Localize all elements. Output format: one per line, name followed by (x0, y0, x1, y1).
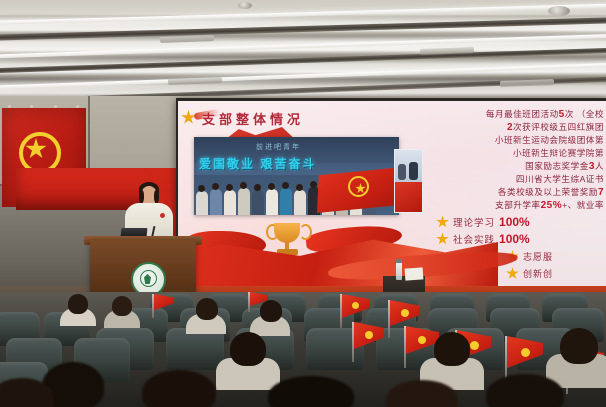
flag-emblem-icon (470, 341, 479, 350)
line-number: 25% (541, 200, 563, 211)
slide-metric-small: 创新创 (506, 267, 606, 280)
slide-text-line: 各类校级及以上荣誉奖励7 (410, 186, 606, 199)
audience-head (68, 294, 88, 314)
photo-person (280, 188, 292, 215)
line-prefix: 四川省大学生综A证书 (516, 174, 604, 184)
photo-person-head (198, 185, 205, 192)
slide-metric: 社会实践 100% (436, 232, 606, 246)
metric-label: 志愿服 (523, 250, 553, 263)
flag-emblem-icon (352, 302, 359, 309)
photo-person-head (240, 182, 247, 189)
line-suffix: 人 (595, 161, 604, 171)
photo-person-head (282, 182, 289, 189)
flag-emblem-icon (521, 348, 530, 357)
flag-pole (248, 292, 250, 312)
trophy-cup-icon (274, 223, 300, 243)
flag-tack (76, 105, 79, 108)
flag-emblem-icon (365, 331, 373, 339)
flag-pole (340, 294, 342, 328)
metric-star-icon (436, 216, 449, 229)
slide-text-line: 四川省大学生综A证书 (410, 173, 606, 186)
metric-star-icon (436, 233, 449, 246)
photo-person-head (268, 183, 275, 190)
metric-value: 100% (499, 232, 530, 246)
photo-person (266, 189, 278, 215)
ceiling-fixture (168, 77, 222, 85)
flag-pole (505, 336, 507, 382)
metric-value: 100% (499, 215, 530, 229)
flag-pole (152, 294, 154, 318)
flag-emblem-icon (401, 309, 409, 317)
ceiling-fixture (500, 79, 554, 87)
line-suffix: 次 （全校 (565, 109, 604, 119)
flag-tack (8, 105, 11, 108)
flag-pole (352, 322, 354, 362)
photo-person-head (226, 184, 233, 191)
slide-metric: 理论学习 100% (436, 215, 606, 229)
ceiling-fixture (160, 35, 214, 43)
audience-head-foreground (142, 370, 216, 407)
trophy-handle-icon (299, 224, 312, 240)
audience-head (434, 332, 470, 366)
smoke-detector (548, 6, 570, 16)
auditorium-seat (166, 328, 224, 370)
line-number: 7 (598, 187, 604, 198)
flag-emblem-icon (418, 336, 426, 344)
audience-head (112, 296, 132, 316)
photo-person (224, 190, 236, 215)
slide-title: 支部整体情况 (202, 109, 304, 128)
photo-person (294, 190, 306, 215)
slide-text-line: 支部升学率25%+、就业率 (410, 199, 606, 212)
line-prefix: 每月最佳班团活动 (486, 109, 559, 119)
audience-head (196, 298, 218, 320)
metric-label: 理论学习 (453, 215, 495, 229)
slide-group-photo: 前进吧青年 爱国敬业 艰苦奋斗 (194, 137, 399, 215)
metric-star-icon (506, 267, 519, 280)
line-suffix: 次获评校级五四红旗团 (513, 122, 604, 132)
photo-person (238, 188, 250, 215)
speaker-hair-side (139, 190, 144, 203)
projection-screen: 支部整体情况 前进吧青年 爱国敬业 艰苦奋斗 (178, 101, 606, 287)
audience-area (0, 292, 606, 407)
audience-head-foreground (268, 376, 354, 407)
photo-person-head (310, 181, 317, 188)
slide-text-line: 小班新生辩论赛学院第 (410, 147, 606, 160)
line-prefix: 小班新生运动会院级团体第 (495, 135, 604, 145)
photo-slogan: 爱国敬业 艰苦奋斗 (199, 155, 316, 172)
water-bottle-cap (396, 259, 402, 263)
speaker-badge (160, 213, 165, 218)
line-prefix: 国家励志奖学金 (525, 161, 589, 171)
slide-text-line: 2次获评校级五四红旗团 (410, 121, 606, 134)
slide-text-line: 国家励志奖学金3人 (410, 160, 606, 173)
slide-metric-small: 志愿服 (506, 250, 606, 263)
paper-sheet (405, 267, 424, 280)
audience-head (260, 300, 282, 322)
photo-person-head (212, 183, 219, 190)
ceiling (0, 0, 606, 100)
slide-text-line: 小班新生运动会院级团体第 (410, 134, 606, 147)
flag-tack (54, 105, 57, 108)
audience-head (560, 328, 598, 364)
line-prefix: 各类校级及以上荣誉奖励 (498, 187, 598, 197)
line-suffix: +、就业率 (562, 200, 604, 210)
flag-tack (30, 105, 33, 108)
photo-person-head (254, 184, 261, 191)
speaker-hair-side (154, 190, 159, 203)
slide-text-line: 每月最佳班团活动5次 （全校 (410, 108, 606, 121)
photo-flag-ring-icon (348, 176, 369, 197)
auditorium-photo: 支部整体情况 前进吧青年 爱国敬业 艰苦奋斗 (0, 0, 606, 407)
photo-subtitle: 前进吧青年 (256, 142, 301, 152)
line-prefix: 支部升学率 (495, 200, 540, 210)
photo-person (210, 189, 222, 215)
metric-label: 创新创 (523, 267, 553, 280)
flag-pole (388, 300, 390, 338)
flag-pole (404, 326, 406, 368)
water-bottle (396, 262, 402, 280)
photo-person-head (296, 184, 303, 191)
photo-person (252, 190, 264, 215)
smoke-detector (238, 2, 252, 9)
inset-person (398, 164, 406, 180)
audience-head (230, 332, 266, 366)
crest-glyph (144, 274, 151, 284)
photo-person (196, 191, 208, 215)
line-prefix: 小班新生辩论赛学院第 (513, 148, 604, 158)
